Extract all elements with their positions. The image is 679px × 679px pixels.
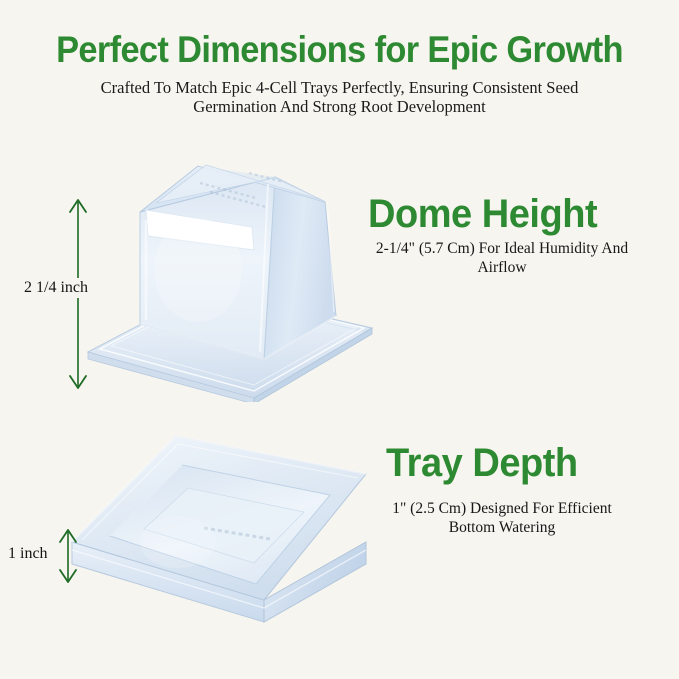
- tray-depth-dimension: 1 inch: [52, 527, 84, 585]
- tray-dimension-arrow-icon: [52, 527, 84, 585]
- humidity-dome-image: [78, 140, 378, 402]
- tray-dimension-label: 1 inch: [5, 544, 51, 564]
- page-title: Perfect Dimensions for Epic Growth: [24, 29, 655, 71]
- tray-section-heading: Tray Depth: [386, 441, 578, 486]
- seed-tray-image: [58, 432, 378, 627]
- dome-section-body: 2-1/4" (5.7 Cm) For Ideal Humidity And A…: [368, 240, 636, 277]
- page-subtitle: Crafted To Match Epic 4-Cell Trays Perfe…: [70, 78, 609, 116]
- dome-dimension-label: 2 1/4 inch: [21, 278, 91, 298]
- dome-height-dimension: 2 1/4 inch: [62, 196, 94, 392]
- infographic-canvas: Perfect Dimensions for Epic Growth Craft…: [0, 0, 679, 679]
- tray-section-body: 1" (2.5 Cm) Designed For Efficient Botto…: [368, 500, 636, 537]
- dome-section-heading: Dome Height: [368, 192, 597, 237]
